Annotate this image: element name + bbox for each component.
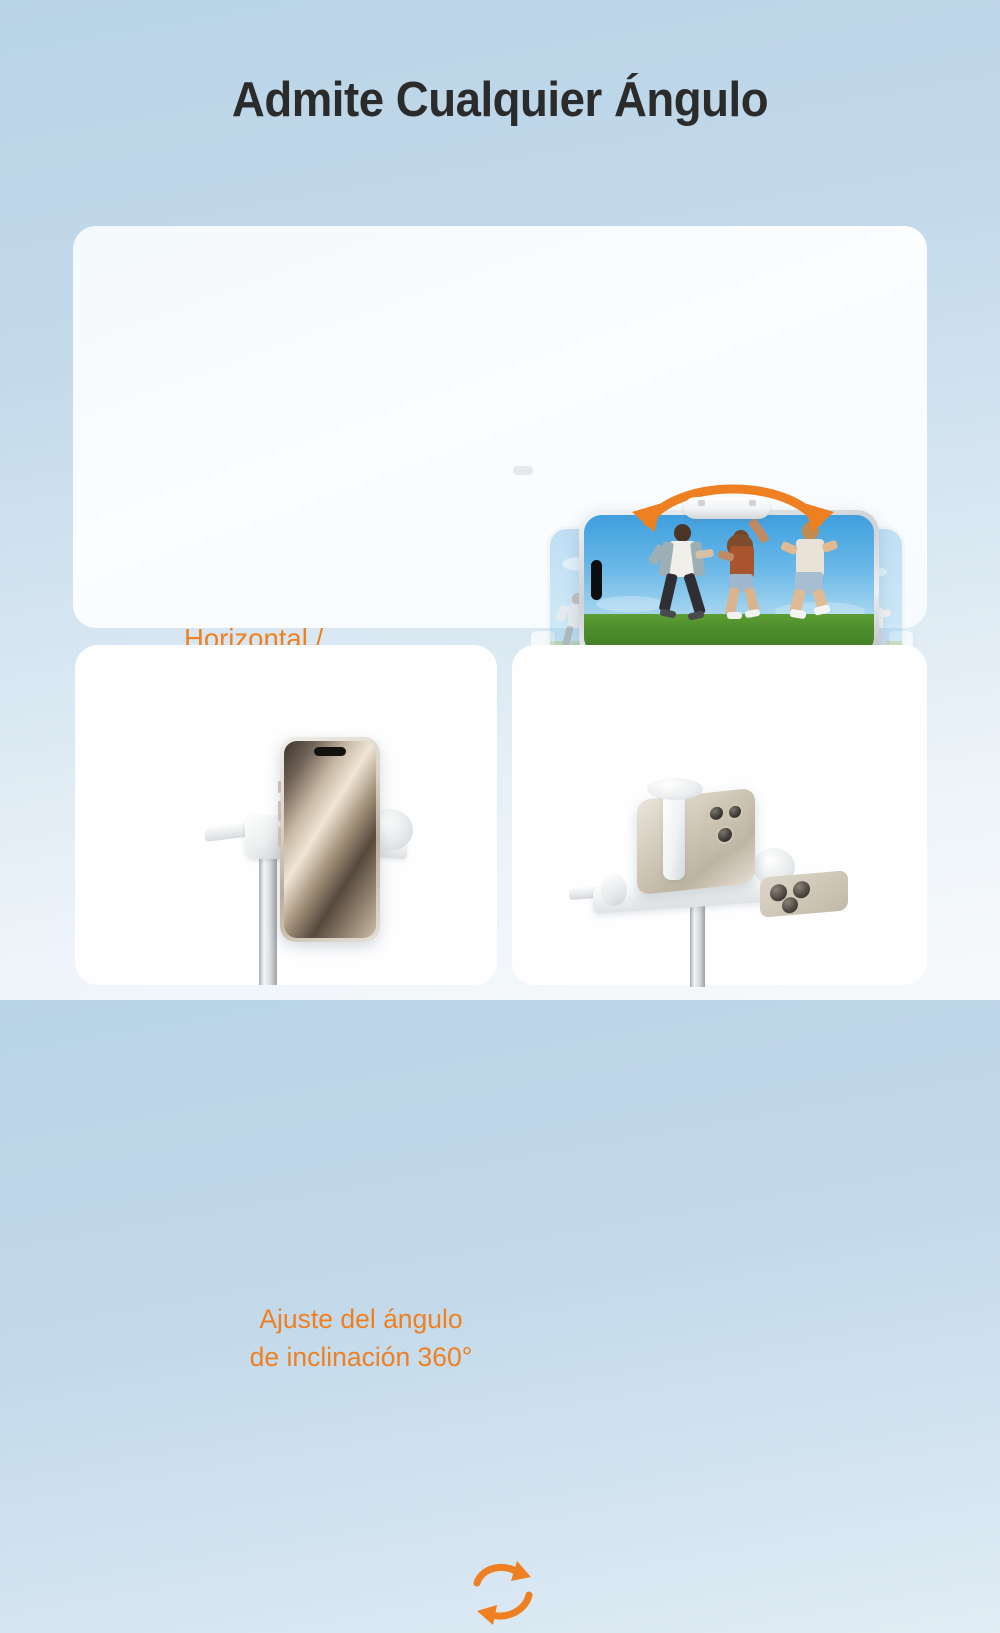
phone-top-clamp: [684, 497, 770, 519]
camera-lens-icon: [793, 880, 810, 898]
volume-down-button: [278, 827, 281, 847]
tilt-360-illustration: [215, 745, 465, 985]
dynamic-island-icon: [591, 560, 602, 600]
mute-switch-icon: [278, 781, 281, 793]
tilt-360-label-line2: de inclinación 360°: [160, 1339, 562, 1377]
rotation-panel-card: Horizontal / pantalla vertical 180°: [73, 226, 927, 628]
page-title: Admite Cualquier Ángulo: [35, 72, 965, 128]
phone-holder-head: [647, 778, 703, 800]
tilt-360-label: Ajuste del ángulo de inclinación 360°: [160, 1301, 562, 1376]
dynamic-island-icon: [314, 747, 346, 756]
phone-screen: [584, 515, 874, 655]
dancer-figure-left: [654, 524, 710, 619]
tilt-360-label-line1: Ajuste del ángulo: [160, 1301, 562, 1339]
circular-rotation-arrow-icon: [465, 1553, 545, 1633]
pole-end-knob: [513, 466, 533, 475]
mount-pole: [690, 902, 705, 987]
phone-secondary-flat: [760, 870, 848, 918]
phone-holder-arm: [663, 788, 685, 880]
dancer-figure-center: [717, 524, 767, 620]
mount-pole: [259, 845, 277, 985]
volume-up-button: [278, 801, 281, 821]
phone-landscape-rear: [637, 788, 755, 895]
dancer-figure-right: [781, 522, 837, 620]
phone-screen-titanium: [284, 741, 376, 938]
camera-lens-icon: [782, 897, 798, 914]
camera-lens-icon: [716, 825, 734, 845]
phone-portrait: [280, 737, 380, 942]
tilt-180-illustration: [585, 770, 885, 985]
tightening-knob-icon: [601, 874, 627, 906]
screen-scene-dancers: [584, 515, 874, 655]
camera-lens-icon: [708, 804, 725, 823]
camera-module: [704, 798, 748, 855]
camera-lens-icon: [727, 803, 743, 821]
